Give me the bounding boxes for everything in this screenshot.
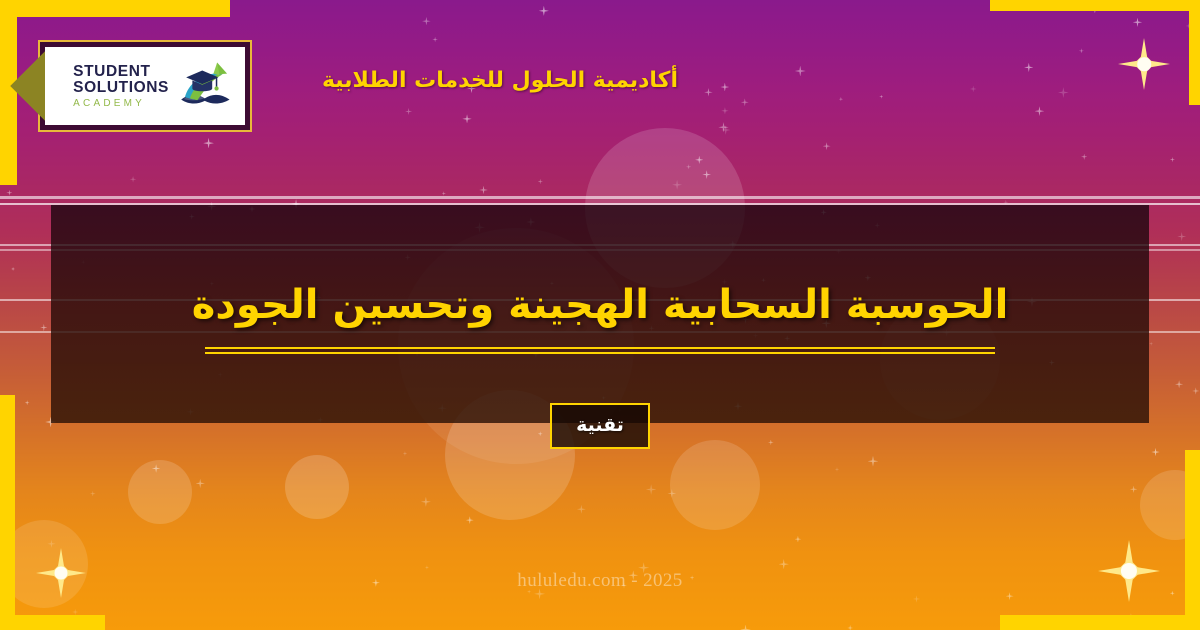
- sparkle-star-icon: [1090, 4, 1099, 13]
- sparkle-star-icon: [47, 540, 55, 548]
- sparkle-star-icon: [462, 114, 471, 123]
- sparkle-star-icon: [686, 164, 691, 169]
- sparkle-star-icon: [1133, 18, 1142, 27]
- corner-band-horizontal: [990, 0, 1200, 11]
- sparkle-star-icon: [1050, 625, 1056, 630]
- sparkle-star-icon: [422, 17, 431, 26]
- corner-band-bottom-right-icon: [1000, 450, 1200, 630]
- category-badge: تقنية: [550, 403, 650, 449]
- corner-band-bottom-left-icon: [0, 395, 105, 630]
- bokeh-circle: [670, 440, 760, 530]
- sparkle-star-icon: [835, 467, 840, 472]
- sparkle-star-icon: [720, 83, 729, 92]
- logo-line-1: STUDENT: [73, 64, 169, 80]
- page-title: الحوسبة السحابية الهجينة وتحسين الجودة: [192, 281, 1009, 329]
- sparkle-star-icon: [839, 97, 844, 102]
- sparkle-star-icon: [1006, 592, 1014, 600]
- sparkle-star-icon: [1151, 448, 1159, 456]
- sparkle-star-icon: [1035, 106, 1045, 116]
- corner-band-vertical: [1185, 450, 1200, 630]
- sparkle-star-icon: [721, 125, 730, 134]
- sparkle-star-icon: [741, 98, 749, 106]
- sparkle-star-icon: [704, 88, 713, 97]
- graduation-cap-book-arrow-icon: [175, 55, 237, 117]
- corner-band-horizontal: [1000, 615, 1200, 630]
- bokeh-circle: [128, 460, 192, 524]
- sparkle-star-icon: [695, 156, 703, 164]
- sparkle-star-icon: [577, 505, 586, 514]
- sparkle-star-icon: [432, 37, 438, 43]
- sparkle-star-icon: [1149, 342, 1153, 346]
- corner-band-vertical: [1189, 0, 1200, 105]
- sparkle-star-icon: [672, 180, 682, 190]
- corner-band-horizontal: [0, 615, 105, 630]
- sparkle-star-icon: [90, 491, 96, 497]
- sparkle-star-icon: [779, 559, 789, 569]
- sparkle-star-icon: [1081, 154, 1087, 160]
- corner-band-top-right-icon: [990, 0, 1200, 105]
- scanline: [0, 196, 1200, 199]
- sparkle-star-icon: [72, 609, 78, 615]
- sparkle-star-icon: [740, 625, 751, 630]
- sparkle-star-icon: [421, 497, 431, 507]
- sparkle-star-icon: [702, 170, 711, 179]
- organization-name: أكاديمية الحلول للخدمات الطلابية: [258, 68, 678, 93]
- sparkle-star-icon: [11, 267, 15, 271]
- sparkle-star-icon: [847, 625, 853, 630]
- sparkle-star-icon: [40, 324, 47, 331]
- sparkle-star-icon: [479, 186, 488, 195]
- four-point-star-icon: [1118, 38, 1170, 90]
- corner-band-vertical: [0, 0, 17, 185]
- sparkle-star-icon: [970, 86, 977, 93]
- sparkle-star-icon: [1130, 486, 1138, 494]
- sparkle-star-icon: [1129, 613, 1133, 617]
- bokeh-circle: [285, 455, 349, 519]
- sparkle-star-icon: [152, 464, 161, 473]
- sparkle-star-icon: [538, 431, 543, 436]
- corner-band-vertical: [0, 395, 15, 630]
- sparkle-star-icon: [795, 66, 806, 77]
- sparkle-star-icon: [646, 484, 657, 495]
- promo-banner: STUDENT SOLUTIONS ACADEMY أكاديمية الحلو…: [0, 0, 1200, 630]
- sparkle-star-icon: [6, 190, 12, 196]
- logo-card: STUDENT SOLUTIONS ACADEMY: [45, 47, 245, 125]
- sparkle-star-icon: [795, 536, 802, 543]
- bokeh-circle: [1140, 470, 1200, 540]
- sparkle-star-icon: [1058, 87, 1069, 98]
- sparkle-star-icon: [1186, 23, 1192, 29]
- sparkle-star-icon: [539, 6, 549, 16]
- sparkle-star-icon: [203, 138, 214, 149]
- sparkle-star-icon: [913, 595, 921, 603]
- sparkle-star-icon: [442, 191, 447, 196]
- sparkle-star-icon: [425, 565, 429, 569]
- sparkle-star-icon: [667, 489, 676, 498]
- bokeh-circle: [0, 520, 88, 608]
- sparkle-star-icon: [405, 108, 412, 115]
- sparkle-star-icon: [25, 400, 30, 405]
- sparkle-star-icon: [823, 142, 831, 150]
- sparkle-star-icon: [466, 516, 474, 524]
- sparkle-star-icon: [1170, 157, 1175, 162]
- sparkle-star-icon: [868, 456, 879, 467]
- sparkle-star-icon: [2, 523, 11, 532]
- sparkle-star-icon: [1177, 232, 1186, 241]
- logo-line-2: SOLUTIONS: [73, 80, 169, 96]
- footer-credit: hululedu.com - 2025: [0, 570, 1200, 592]
- sparkle-star-icon: [879, 95, 883, 99]
- sparkle-star-icon: [403, 451, 408, 456]
- sparkle-star-icon: [196, 479, 205, 488]
- logo-line-3: ACADEMY: [73, 99, 169, 109]
- sparkle-star-icon: [1192, 387, 1199, 394]
- sparkle-star-icon: [718, 122, 728, 132]
- logo-wordmark: STUDENT SOLUTIONS ACADEMY: [73, 64, 169, 109]
- corner-band-horizontal: [0, 0, 230, 17]
- sparkle-star-icon: [538, 179, 544, 185]
- sparkle-star-icon: [130, 176, 137, 183]
- sparkle-star-icon: [1175, 380, 1183, 388]
- title-panel: الحوسبة السحابية الهجينة وتحسين الجودة: [51, 205, 1149, 423]
- title-underline-rule: [205, 347, 995, 354]
- academy-logo-block: STUDENT SOLUTIONS ACADEMY: [38, 40, 252, 132]
- sparkle-star-icon: [1079, 48, 1084, 53]
- sparkle-star-icon: [768, 440, 774, 446]
- sparkle-star-icon: [1024, 63, 1033, 72]
- sparkle-star-icon: [721, 107, 728, 114]
